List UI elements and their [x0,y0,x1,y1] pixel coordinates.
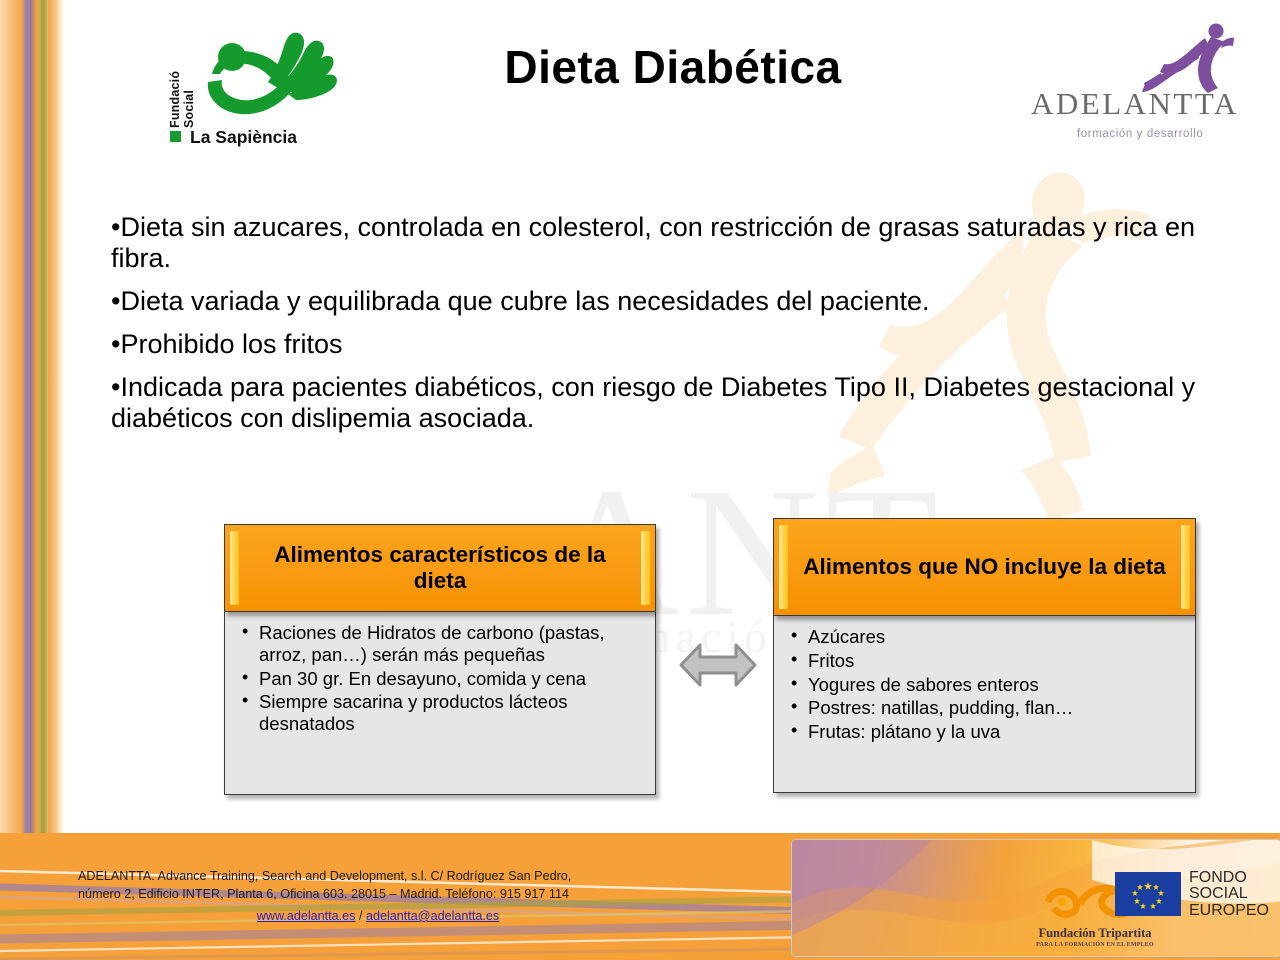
footer-address-line2: número 2, Edificio INTER, Planta 6, Ofic… [78,885,678,903]
box-alimentos-caracteristicos: Alimentos característicos de la dieta Ra… [224,524,656,795]
list-item: Raciones de Hidratos de carbono (pastas,… [239,622,641,666]
box-right-list: Azúcares Fritos Yogures de sabores enter… [788,626,1181,743]
stripe-purple [26,0,30,960]
tripartita-label: Fundación Tripartita PARA LA FORMACIÓN E… [1035,926,1155,948]
bullet-text: Prohibido los fritos [120,329,342,359]
email-link[interactable]: adelantta@adelantta.es [366,909,499,923]
bullet-text: Dieta variada y equilibrada que cubre la… [120,286,929,316]
box-left-header: Alimentos característicos de la dieta [224,524,656,612]
bullet-item: •Dieta variada y equilibrada que cubre l… [111,286,1241,317]
list-item: Frutas: plátano y la uva [788,721,1181,743]
slide-canvas: ANT formación y desarrollo Fundació Soci… [66,0,1280,833]
bullet-text: Indicada para pacientes diabéticos, con … [111,372,1195,433]
left-right-arrow-icon [678,637,758,693]
bullet-text: Dieta sin azucares, controlada en colest… [111,212,1195,273]
list-item: Pan 30 gr. En desayuno, comida y cena [239,668,641,690]
tripartita-name: Fundación Tripartita [1035,926,1155,941]
slide-root: ANT formación y desarrollo Fundació Soci… [0,0,1280,960]
box-right-body: Azúcares Fritos Yogures de sabores enter… [773,616,1196,793]
eu-flag-icon [1115,872,1181,916]
fse-line3: EUROPEO [1189,903,1269,919]
eu-funding-panel: Fundación Tripartita PARA LA FORMACIÓN E… [791,839,1280,957]
bullet-item: •Prohibido los fritos [111,329,1241,360]
logo-tagline: formación y desarrollo [1077,128,1203,140]
box-right-header: Alimentos que NO incluye la dieta [773,518,1196,616]
tripartita-sub: PARA LA FORMACIÓN EN EL EMPLEO [1035,942,1155,948]
website-link[interactable]: www.adelantta.es [257,909,356,923]
brand-square-marker [170,131,181,142]
list-item: Fritos [788,650,1181,672]
bullet-item: •Dieta sin azucares, controlada en coles… [111,212,1241,274]
link-separator: / [355,909,366,923]
box-left-body: Raciones de Hidratos de carbono (pastas,… [224,612,656,795]
footer-links: www.adelantta.es / adelantta@adelantta.e… [78,909,678,923]
stripe-thin [47,0,48,960]
list-item: Yogures de sabores enteros [788,674,1181,696]
bullet-item: •Indicada para pacientes diabéticos, con… [111,372,1241,434]
box-left-list: Raciones de Hidratos de carbono (pastas,… [239,622,641,735]
purple-runner-icon [1139,22,1234,94]
left-decorative-band [0,0,66,960]
fse-logo: FONDO SOCIAL EUROPEO [1115,870,1269,919]
stripe-olive [41,0,44,960]
list-item: Siempre sacarina y productos lácteos des… [239,691,641,735]
logo-adelantta: ADELANTTA formación y desarrollo [1031,22,1236,142]
body-bullet-list: •Dieta sin azucares, controlada en coles… [111,212,1241,446]
box-alimentos-no-incluye: Alimentos que NO incluye la dieta Azúcar… [773,518,1196,793]
list-item: Azúcares [788,626,1181,648]
list-item: Postres: natillas, pudding, flan… [788,697,1181,719]
footer-address-line1: ADELANTTA. Advance Training, Search and … [78,867,678,885]
logo-wordmark: ADELANTTA [1031,86,1239,122]
footer-address: ADELANTTA. Advance Training, Search and … [78,867,678,904]
fse-line1: FONDO [1189,870,1269,886]
fse-line2: SOCIAL [1189,886,1269,902]
fse-text: FONDO SOCIAL EUROPEO [1189,870,1269,919]
logo-brand-label: La Sapiència [190,127,297,148]
